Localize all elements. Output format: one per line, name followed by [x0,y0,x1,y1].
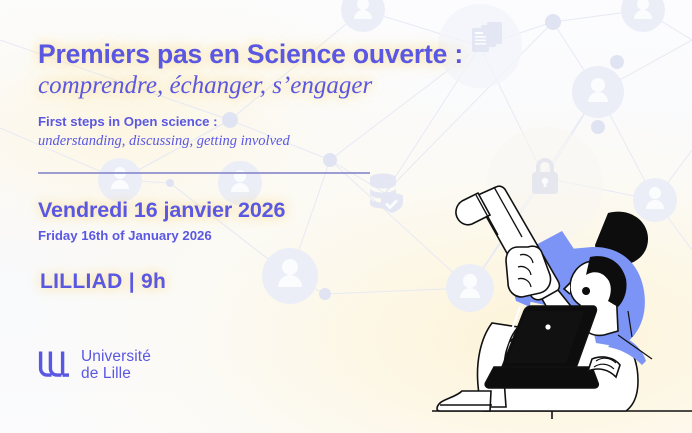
event-date-french: Vendredi 16 janvier 2026 [38,198,285,223]
logo-line-2: de Lille [81,365,151,382]
open-science-event-poster: Premiers pas en Science ouverte : compre… [0,0,692,433]
page-subtitle-english: understanding, discussing, getting invol… [38,132,538,150]
divider [38,172,370,174]
page-title-english: First steps in Open science : [38,114,538,131]
title-block: Premiers pas en Science ouverte : compre… [38,40,538,150]
poster-content: Premiers pas en Science ouverte : compre… [0,0,692,433]
event-venue-and-time: LILLIAD | 9h [40,270,166,294]
university-of-lille-wordmark: Université de Lille [81,348,151,383]
event-date-english: Friday 16th of January 2026 [38,227,285,244]
university-of-lille-mark-icon [38,350,72,380]
page-subtitle: comprendre, échanger, s’engager [38,71,538,101]
logo-line-1: Université [81,348,151,365]
page-title: Premiers pas en Science ouverte : [38,40,538,70]
university-of-lille-logo: Université de Lille [38,348,151,383]
event-date-block: Vendredi 16 janvier 2026 Friday 16th of … [38,198,285,244]
